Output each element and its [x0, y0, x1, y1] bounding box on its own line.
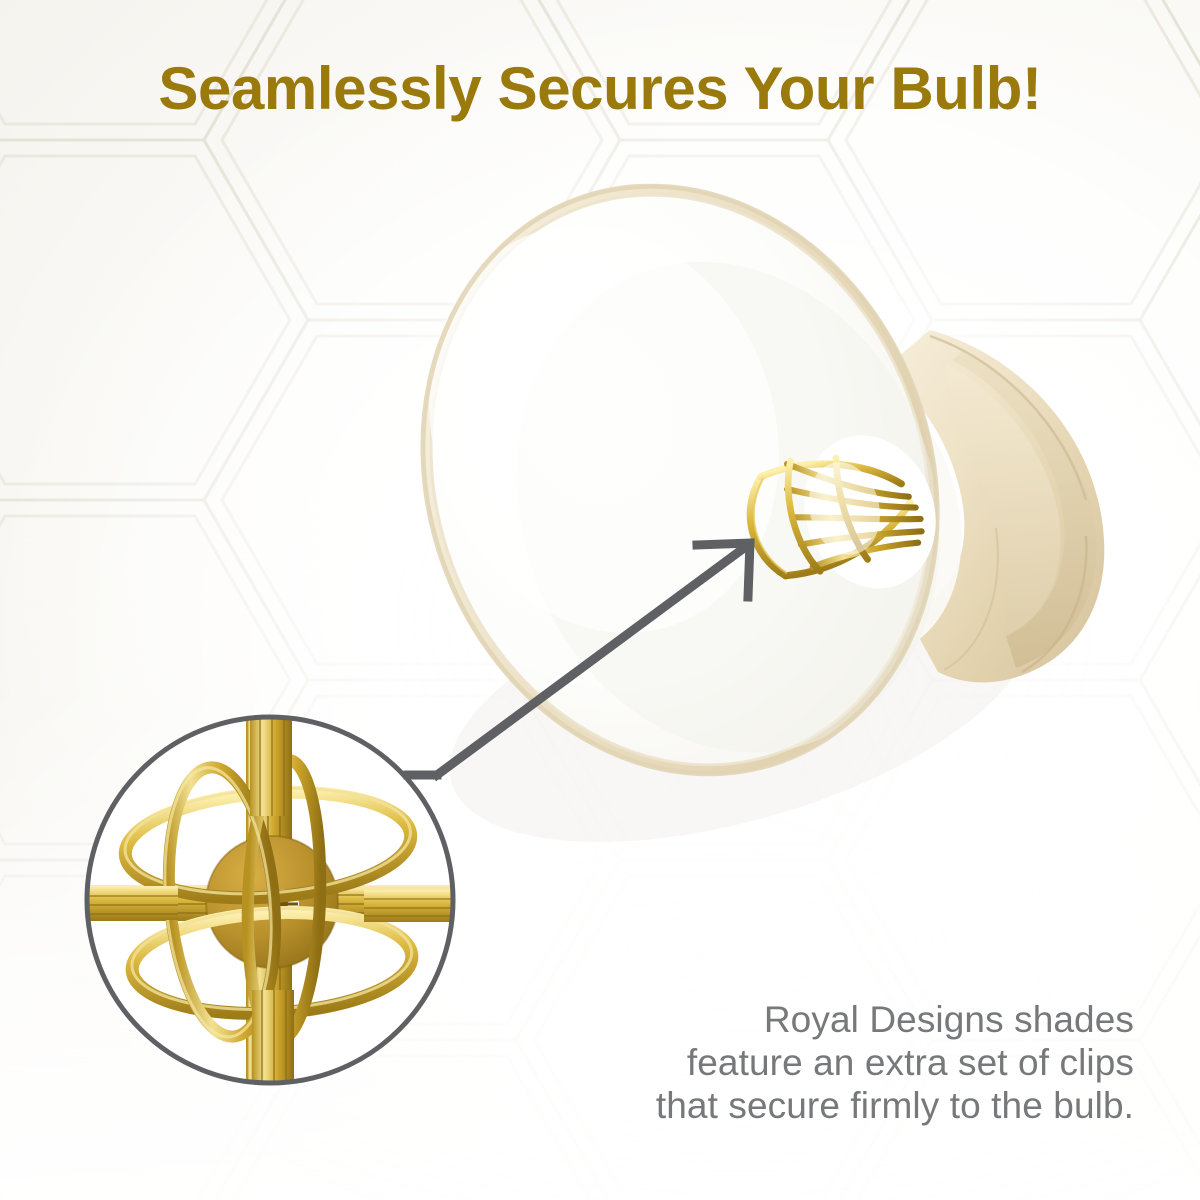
- feature-graphic-canvas: Seamlessly Secures Your Bulb! Royal Desi…: [0, 0, 1200, 1200]
- caption-block: Royal Designs shades feature an extra se…: [494, 998, 1134, 1127]
- caption-line-1: Royal Designs shades: [494, 998, 1134, 1041]
- caption-line-2: feature an extra set of clips: [494, 1041, 1134, 1084]
- caption-line-3: that secure firmly to the bulb.: [494, 1084, 1134, 1127]
- page-title: Seamlessly Secures Your Bulb!: [0, 54, 1200, 123]
